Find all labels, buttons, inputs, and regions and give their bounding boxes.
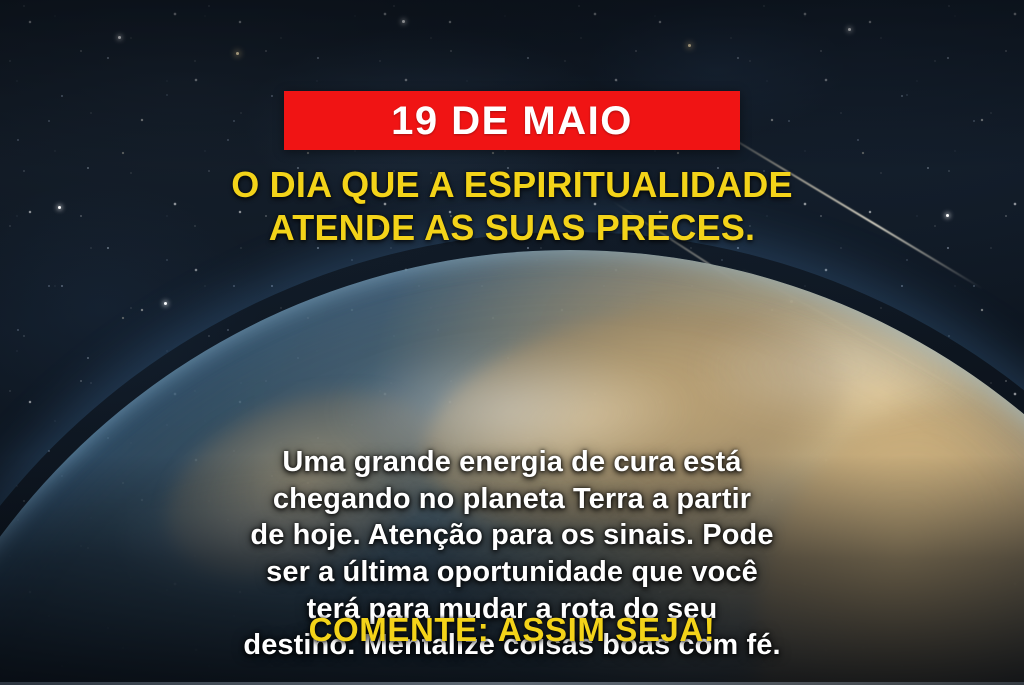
poster-canvas: 19 DE MAIO O DIA QUE A ESPIRITUALIDADE A… [0,0,1024,685]
body-line-3: de hoje. Atenção para os sinais. Pode [62,517,962,554]
body-line-4: ser a última oportunidade que você [62,554,962,591]
date-banner-text: 19 DE MAIO [391,101,633,141]
call-to-action-text: COMENTE: ASSIM SEJA! [0,613,1024,646]
body-line-2: chegando no planeta Terra a partir [62,481,962,518]
poster-content: 19 DE MAIO O DIA QUE A ESPIRITUALIDADE A… [0,0,1024,685]
headline-line-1: O DIA QUE A ESPIRITUALIDADE [0,164,1024,207]
headline: O DIA QUE A ESPIRITUALIDADE ATENDE AS SU… [0,164,1024,250]
headline-line-2: ATENDE AS SUAS PRECES. [0,207,1024,250]
date-banner: 19 DE MAIO [284,91,740,150]
body-line-1: Uma grande energia de cura está [62,444,962,481]
